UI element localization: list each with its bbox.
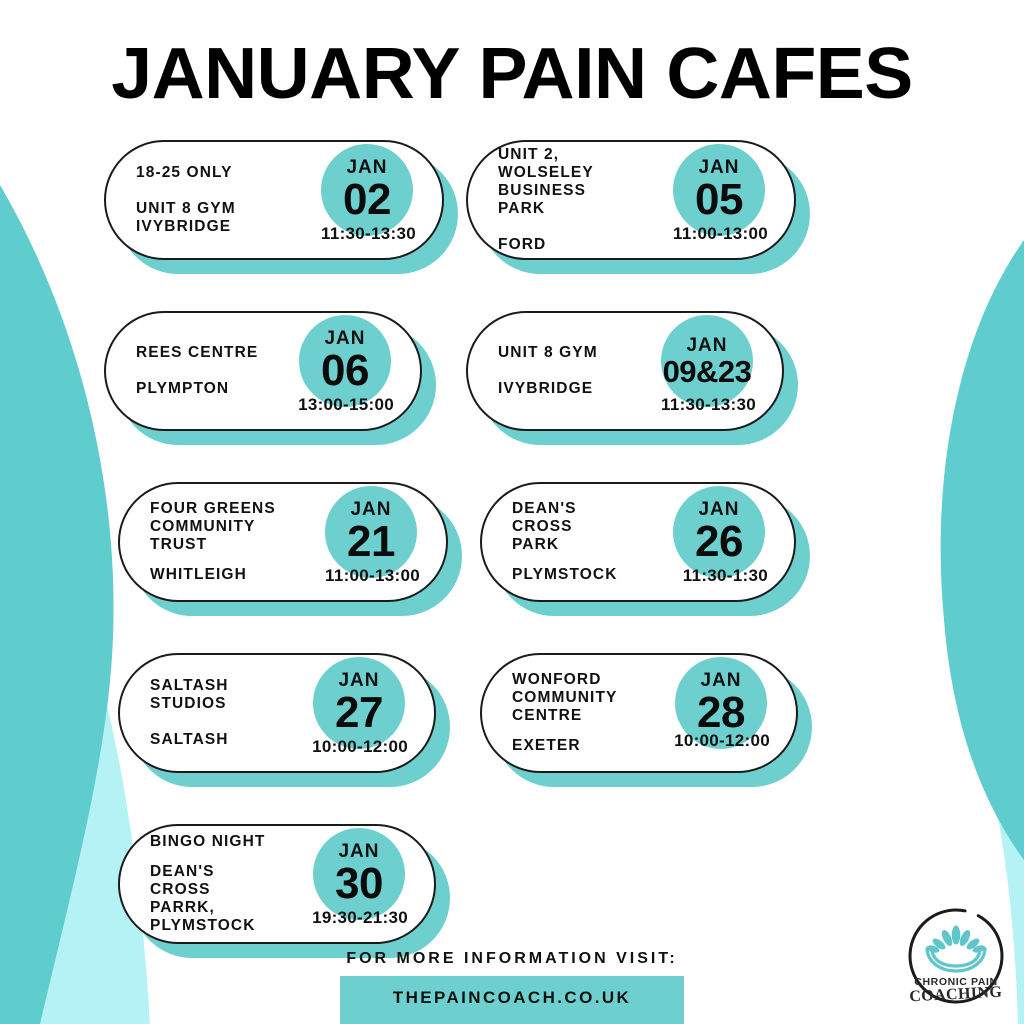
event-slot: SALTASH STUDIOS SALTASH JAN 27 10:00-12:…	[118, 653, 436, 773]
date-day: 27	[335, 691, 383, 735]
event-locality: WHITLEIGH	[150, 566, 288, 584]
date-day: 21	[347, 520, 395, 564]
event-card-body: REES CENTRE PLYMPTON	[136, 313, 270, 429]
event-time: 10:00-12:00	[312, 737, 408, 757]
event-slot: DEAN'S CROSS PARK PLYMSTOCK JAN 26 11:30…	[480, 482, 796, 602]
event-locality: PLYMPTON	[136, 380, 262, 398]
event-card[interactable]: SALTASH STUDIOS SALTASH JAN 27 10:00-12:…	[118, 653, 436, 773]
event-card-shadow: 18-25 ONLY UNIT 8 GYM IVYBRIDGE JAN 02 1…	[104, 140, 444, 260]
event-locality: IVYBRIDGE	[498, 380, 624, 398]
event-venue: 18-25 ONLY	[136, 164, 284, 182]
event-card-body: BINGO NIGHT DEAN'S CROSS PARRK, PLYMSTOC…	[150, 826, 284, 942]
date-day: 30	[335, 862, 383, 906]
footer-label: FOR MORE INFORMATION VISIT:	[0, 950, 1024, 968]
date-badge: JAN 21	[325, 486, 417, 578]
logo-line2: COACHING	[909, 984, 1003, 1006]
event-row: 18-25 ONLY UNIT 8 GYM IVYBRIDGE JAN 02 1…	[0, 140, 1024, 295]
event-card[interactable]: UNIT 2, WOLSELEY BUSINESS PARK FORD JAN …	[466, 140, 796, 260]
event-slot: FOUR GREENS COMMUNITY TRUST WHITLEIGH JA…	[118, 482, 448, 602]
date-day: 02	[343, 178, 391, 222]
date-day: 28	[697, 691, 745, 735]
date-day: 09&23	[663, 356, 752, 387]
event-card-shadow: SALTASH STUDIOS SALTASH JAN 27 10:00-12:…	[118, 653, 436, 773]
event-locality: PLYMSTOCK	[512, 566, 636, 584]
event-row: FOUR GREENS COMMUNITY TRUST WHITLEIGH JA…	[0, 482, 1024, 637]
event-venue: BINGO NIGHT	[150, 833, 276, 851]
date-badge: JAN 06	[299, 315, 391, 407]
event-venue: REES CENTRE	[136, 344, 262, 362]
event-card-body: 18-25 ONLY UNIT 8 GYM IVYBRIDGE	[136, 142, 292, 258]
event-venue: SALTASH STUDIOS	[150, 677, 276, 713]
poster: JANUARY PAIN CAFES 18-25 ONLY UNIT 8 GYM…	[0, 0, 1024, 1024]
page-title: JANUARY PAIN CAFES	[0, 38, 1024, 110]
event-card-shadow: UNIT 8 GYM IVYBRIDGE JAN 09&23 11:30-13:…	[466, 311, 784, 431]
event-time: 11:30-1:30	[683, 566, 768, 586]
event-card-shadow: BINGO NIGHT DEAN'S CROSS PARRK, PLYMSTOC…	[118, 824, 436, 944]
event-card-shadow: WONFORD COMMUNITY CENTRE EXETER JAN 28 1…	[480, 653, 798, 773]
event-card-shadow: DEAN'S CROSS PARK PLYMSTOCK JAN 26 11:30…	[480, 482, 796, 602]
date-month: JAN	[686, 336, 727, 355]
event-slot: 18-25 ONLY UNIT 8 GYM IVYBRIDGE JAN 02 1…	[104, 140, 444, 260]
date-badge: JAN 26	[673, 486, 765, 578]
event-card[interactable]: REES CENTRE PLYMPTON JAN 06 13:00-15:00	[104, 311, 422, 431]
date-badge: JAN 02	[321, 144, 413, 236]
date-badge: JAN 05	[673, 144, 765, 236]
website-url: THEPAINCOACH.CO.UK	[393, 988, 631, 1007]
event-venue: WONFORD COMMUNITY CENTRE	[512, 671, 638, 725]
date-badge: JAN 09&23	[661, 315, 753, 407]
event-card[interactable]: DEAN'S CROSS PARK PLYMSTOCK JAN 26 11:30…	[480, 482, 796, 602]
event-time: 11:30-13:30	[661, 395, 756, 415]
event-row: SALTASH STUDIOS SALTASH JAN 27 10:00-12:…	[0, 653, 1024, 808]
event-card-shadow: REES CENTRE PLYMPTON JAN 06 13:00-15:00	[104, 311, 422, 431]
event-venue: FOUR GREENS COMMUNITY TRUST	[150, 500, 288, 554]
event-card-body: WONFORD COMMUNITY CENTRE EXETER	[512, 655, 646, 771]
event-time: 11:00-13:00	[325, 566, 420, 586]
event-locality: DEAN'S CROSS PARRK, PLYMSTOCK	[150, 863, 276, 935]
date-day: 26	[695, 520, 743, 564]
event-slot: UNIT 8 GYM IVYBRIDGE JAN 09&23 11:30-13:…	[466, 311, 784, 431]
event-slot: BINGO NIGHT DEAN'S CROSS PARRK, PLYMSTOC…	[118, 824, 436, 944]
event-card-body: SALTASH STUDIOS SALTASH	[150, 655, 284, 771]
event-time: 10:00-12:00	[674, 731, 770, 751]
event-card-body: UNIT 8 GYM IVYBRIDGE	[498, 313, 632, 429]
brand-logo: CHRONIC PAIN COACHING	[900, 902, 1012, 1014]
event-slot: WONFORD COMMUNITY CENTRE EXETER JAN 28 1…	[480, 653, 798, 773]
events-grid: 18-25 ONLY UNIT 8 GYM IVYBRIDGE JAN 02 1…	[0, 140, 1024, 995]
event-time: 11:00-13:00	[673, 224, 768, 244]
event-venue: DEAN'S CROSS PARK	[512, 500, 636, 554]
event-date-column: JAN 28	[646, 655, 796, 771]
event-card-body: DEAN'S CROSS PARK PLYMSTOCK	[512, 484, 644, 600]
event-card-body: FOUR GREENS COMMUNITY TRUST WHITLEIGH	[150, 484, 296, 600]
date-day: 06	[321, 349, 369, 393]
event-card[interactable]: WONFORD COMMUNITY CENTRE EXETER JAN 28 1…	[480, 653, 798, 773]
event-locality: UNIT 8 GYM IVYBRIDGE	[136, 200, 284, 236]
event-card-shadow: FOUR GREENS COMMUNITY TRUST WHITLEIGH JA…	[118, 482, 448, 602]
event-time: 11:30-13:30	[321, 224, 416, 244]
event-slot: REES CENTRE PLYMPTON JAN 06 13:00-15:00	[104, 311, 422, 431]
event-row: REES CENTRE PLYMPTON JAN 06 13:00-15:00	[0, 311, 1024, 466]
event-locality: EXETER	[512, 737, 638, 755]
event-time: 13:00-15:00	[298, 395, 394, 415]
event-card[interactable]: 18-25 ONLY UNIT 8 GYM IVYBRIDGE JAN 02 1…	[104, 140, 444, 260]
event-time: 19:30-21:30	[312, 908, 408, 928]
website-banner[interactable]: THEPAINCOACH.CO.UK	[340, 976, 684, 1024]
event-slot: UNIT 2, WOLSELEY BUSINESS PARK FORD JAN …	[466, 140, 796, 260]
event-locality: SALTASH	[150, 731, 276, 749]
event-locality: FORD	[498, 236, 636, 254]
event-venue: UNIT 8 GYM	[498, 344, 624, 362]
event-card-shadow: UNIT 2, WOLSELEY BUSINESS PARK FORD JAN …	[466, 140, 796, 260]
event-card[interactable]: BINGO NIGHT DEAN'S CROSS PARRK, PLYMSTOC…	[118, 824, 436, 944]
footer: FOR MORE INFORMATION VISIT: THEPAINCOACH…	[0, 950, 1024, 1024]
event-card[interactable]: FOUR GREENS COMMUNITY TRUST WHITLEIGH JA…	[118, 482, 448, 602]
date-badge: JAN 27	[313, 657, 405, 749]
event-card[interactable]: UNIT 8 GYM IVYBRIDGE JAN 09&23 11:30-13:…	[466, 311, 784, 431]
date-day: 05	[695, 178, 743, 222]
event-card-body: UNIT 2, WOLSELEY BUSINESS PARK FORD	[498, 142, 644, 258]
date-badge: JAN 30	[313, 828, 405, 920]
event-venue: UNIT 2, WOLSELEY BUSINESS PARK	[498, 146, 636, 218]
